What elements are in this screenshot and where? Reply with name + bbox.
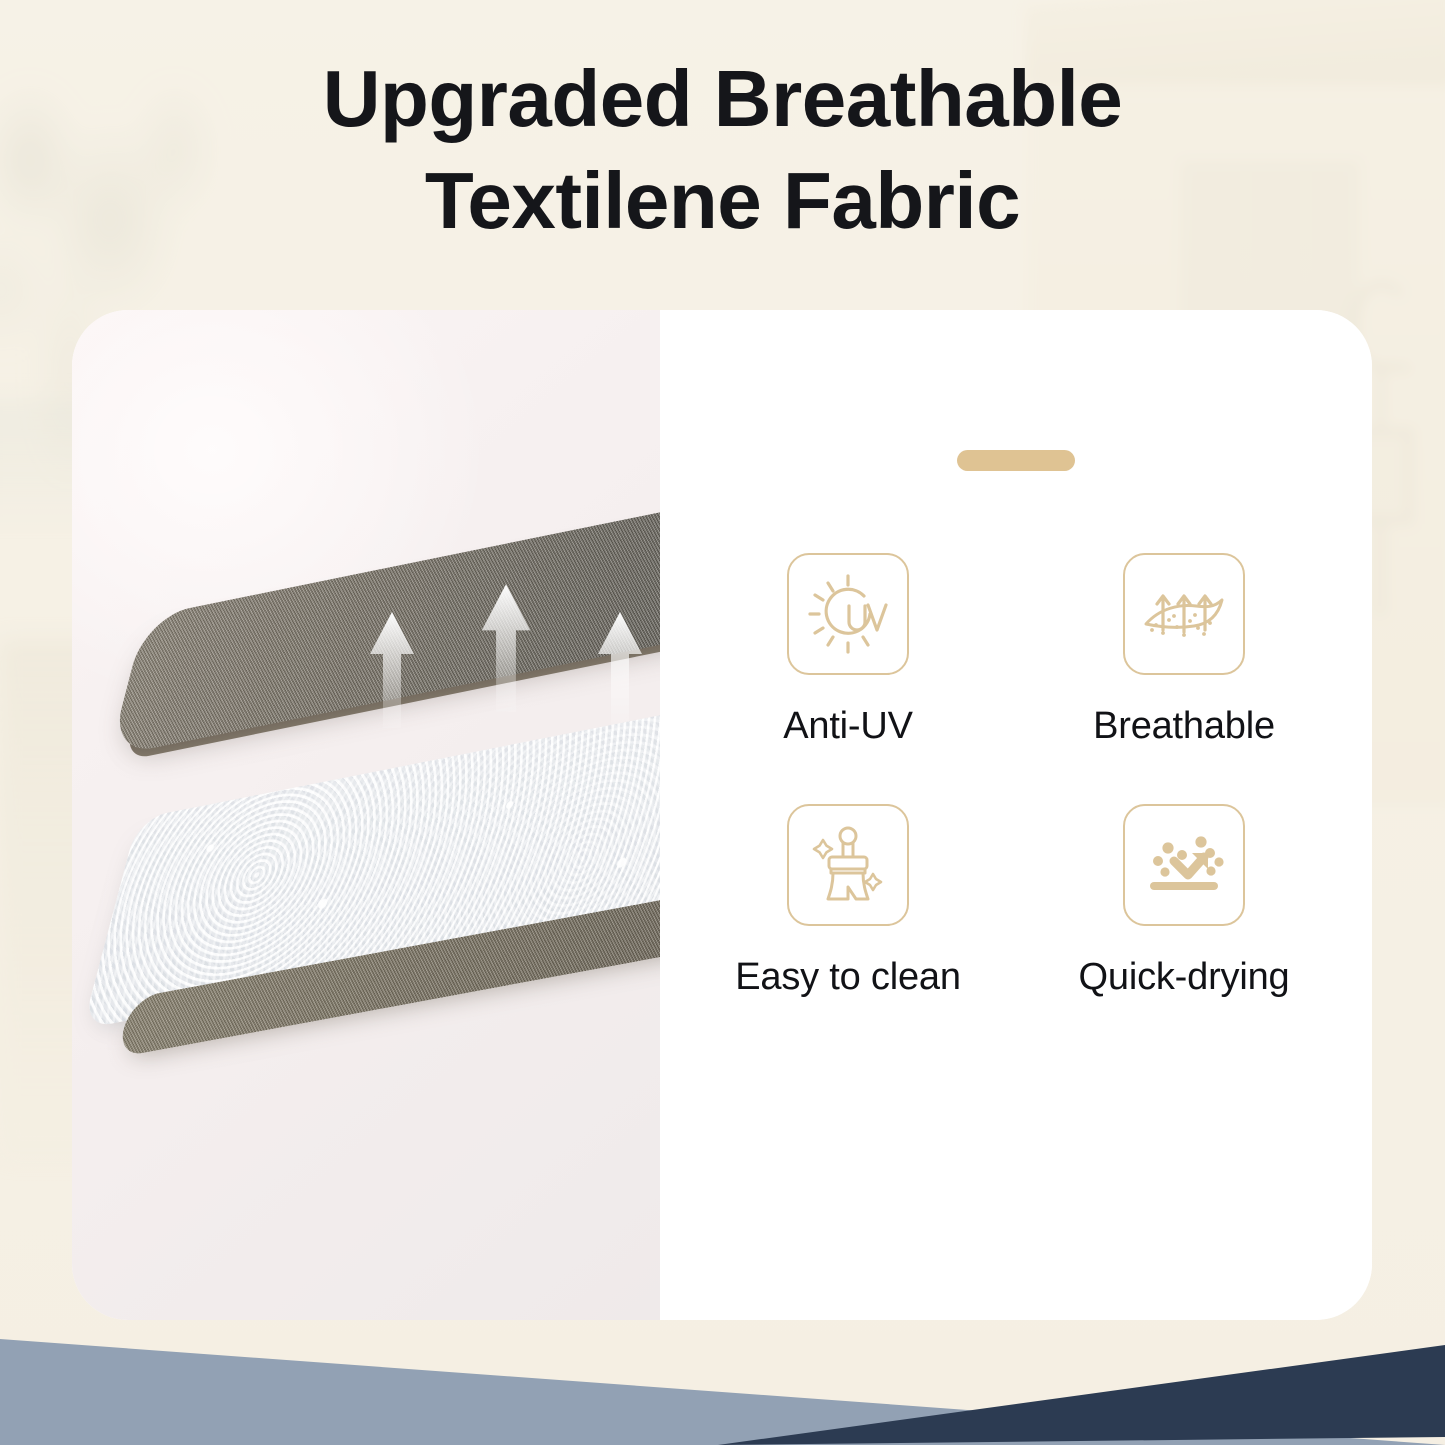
page-title-line-2: Textilene Fabric (0, 150, 1445, 252)
airflow-arrows (72, 310, 660, 1320)
feature-label: Quick-drying (1079, 956, 1290, 999)
feature-label: Easy to clean (735, 956, 961, 999)
feature-grid: Anti-UV (680, 553, 1352, 999)
feature-label: Breathable (1093, 705, 1275, 748)
airflow-arrow-icon (472, 582, 540, 714)
feature-label: Anti-UV (783, 705, 913, 748)
feature-item-quick-drying[interactable]: Quick-drying (1016, 804, 1352, 999)
product-photo (72, 310, 660, 1320)
feature-item-breathable[interactable]: Breathable (1016, 553, 1352, 748)
page-title-line-1: Upgraded Breathable (323, 54, 1123, 143)
feature-item-easy-to-clean[interactable]: Easy to clean (680, 804, 1016, 999)
content-card: Anti-UV (72, 310, 1372, 1320)
airflow-arrow-icon (362, 610, 422, 730)
product-feature-page: Upgraded Breathable Textilene Fabric (0, 0, 1445, 1445)
fabric-airflow-icon (1123, 553, 1245, 675)
feature-panel: Anti-UV (660, 310, 1372, 1320)
gold-accent-bar (957, 450, 1075, 471)
water-bounce-icon (1123, 804, 1245, 926)
airflow-arrow-icon (590, 610, 650, 730)
brush-sparkle-icon (787, 804, 909, 926)
sun-uv-icon (787, 553, 909, 675)
feature-item-anti-uv[interactable]: Anti-UV (680, 553, 1016, 748)
page-title: Upgraded Breathable Textilene Fabric (0, 48, 1445, 253)
